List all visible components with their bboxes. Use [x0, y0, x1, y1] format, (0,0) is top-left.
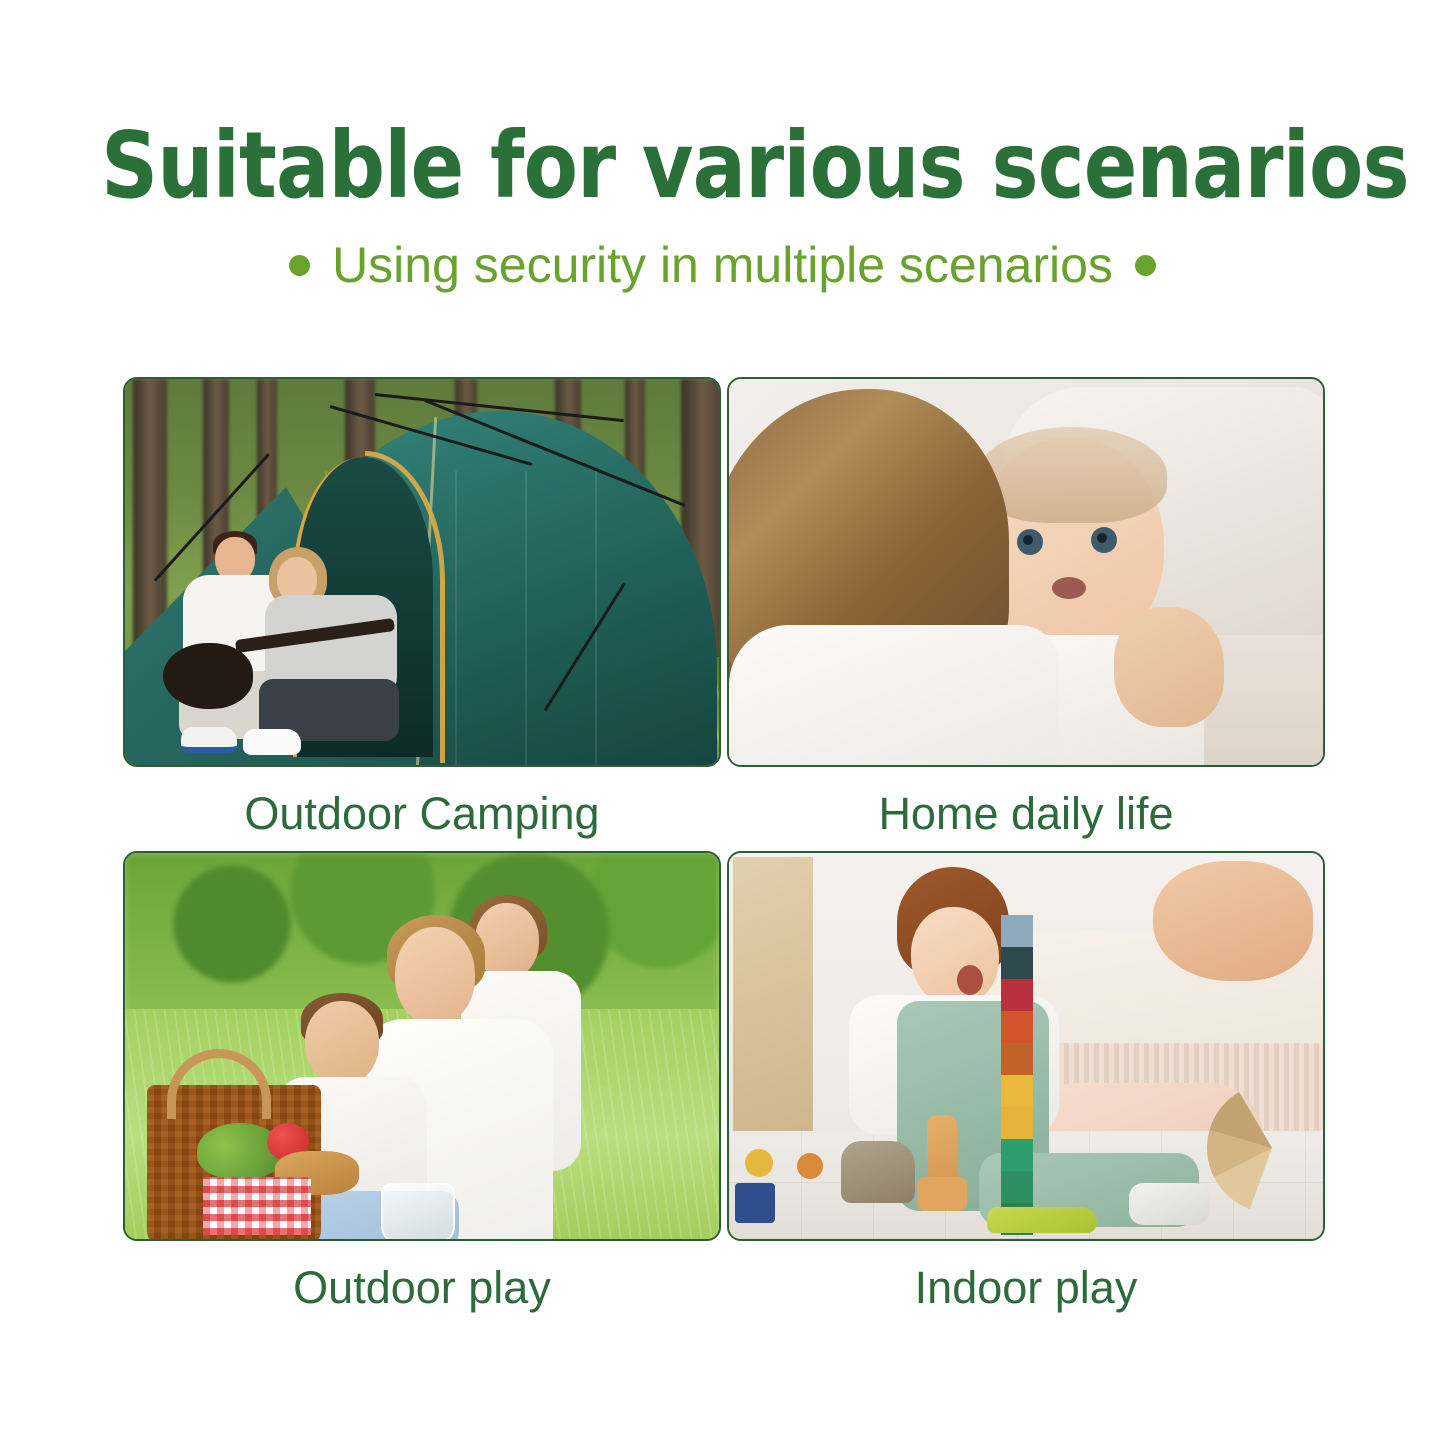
checkered-cloth: [203, 1177, 311, 1235]
wooden-cube-3: [1001, 979, 1033, 1011]
boy-head: [305, 1001, 379, 1085]
bullet-dot-icon-right: [1135, 255, 1156, 276]
yellow-ball-toy: [745, 1149, 773, 1177]
photo-frame-outdoor-camping: [123, 377, 721, 767]
mother-blouse: [729, 625, 1059, 765]
wooden-cube-tower: [1001, 915, 1033, 1235]
scenario-card-home-daily-life: Home daily life: [727, 377, 1325, 841]
wooden-crocodile-toy: [987, 1207, 1097, 1233]
scenario-infographic-page: Suitable for various scenarios Using sec…: [0, 0, 1445, 1445]
wooden-play-frame: [733, 857, 813, 1157]
wooden-cube-1: [1001, 915, 1033, 947]
caption-indoor-play: Indoor play: [727, 1261, 1325, 1315]
header: Suitable for various scenarios Using sec…: [0, 120, 1445, 293]
wooden-giraffe-toy: [927, 1115, 957, 1211]
photo-frame-indoor-play: [727, 851, 1325, 1241]
bullet-dot-icon-left: [289, 255, 310, 276]
wooden-cube-7: [1001, 1107, 1033, 1139]
wooden-cube-2: [1001, 947, 1033, 979]
photo-home-daily-life: [729, 379, 1323, 765]
photo-frame-home-daily-life: [727, 377, 1325, 767]
scenario-card-outdoor-camping: Outdoor Camping: [123, 377, 721, 841]
scenario-grid: Outdoor Camping: [123, 377, 1325, 1315]
subtitle-row: Using security in multiple scenarios: [0, 238, 1445, 293]
blue-block-toy: [735, 1183, 775, 1223]
photo-frame-outdoor-play: [123, 851, 721, 1241]
toddler-face: [911, 907, 999, 1007]
wooden-cube-6: [1001, 1075, 1033, 1107]
scenario-card-indoor-play: Indoor play: [727, 851, 1325, 1315]
caption-home-daily-life: Home daily life: [727, 787, 1325, 841]
guitar-body: [163, 643, 253, 709]
wooden-cube-9: [1001, 1171, 1033, 1203]
mother-hand: [1114, 607, 1224, 727]
caption-outdoor-play: Outdoor play: [123, 1261, 721, 1315]
photo-outdoor-camping: [125, 379, 719, 765]
baby-eye-right: [1091, 527, 1117, 553]
wooden-elephant-toy: [841, 1141, 915, 1203]
sneaker-left: [181, 727, 237, 753]
baby-mouth: [1052, 577, 1086, 599]
photo-indoor-play: [729, 853, 1323, 1239]
caption-outdoor-camping: Outdoor Camping: [123, 787, 721, 841]
wooden-cube-5: [1001, 1043, 1033, 1075]
toddler-mouth: [957, 965, 983, 995]
scenario-card-outdoor-play: Outdoor play: [123, 851, 721, 1315]
photo-outdoor-play: [125, 853, 719, 1239]
cushion: [1153, 861, 1313, 981]
sneaker-right: [243, 729, 301, 755]
mother-head: [395, 927, 475, 1025]
page-subtitle: Using security in multiple scenarios: [332, 238, 1113, 293]
toddler-shoe: [1129, 1183, 1209, 1225]
page-title: Suitable for various scenarios: [101, 120, 1344, 212]
glass-jar: [381, 1183, 455, 1239]
orange-ball-toy: [797, 1153, 823, 1179]
baby-eye-left: [1017, 529, 1043, 555]
wooden-cube-4: [1001, 1011, 1033, 1043]
wooden-cube-8: [1001, 1139, 1033, 1171]
